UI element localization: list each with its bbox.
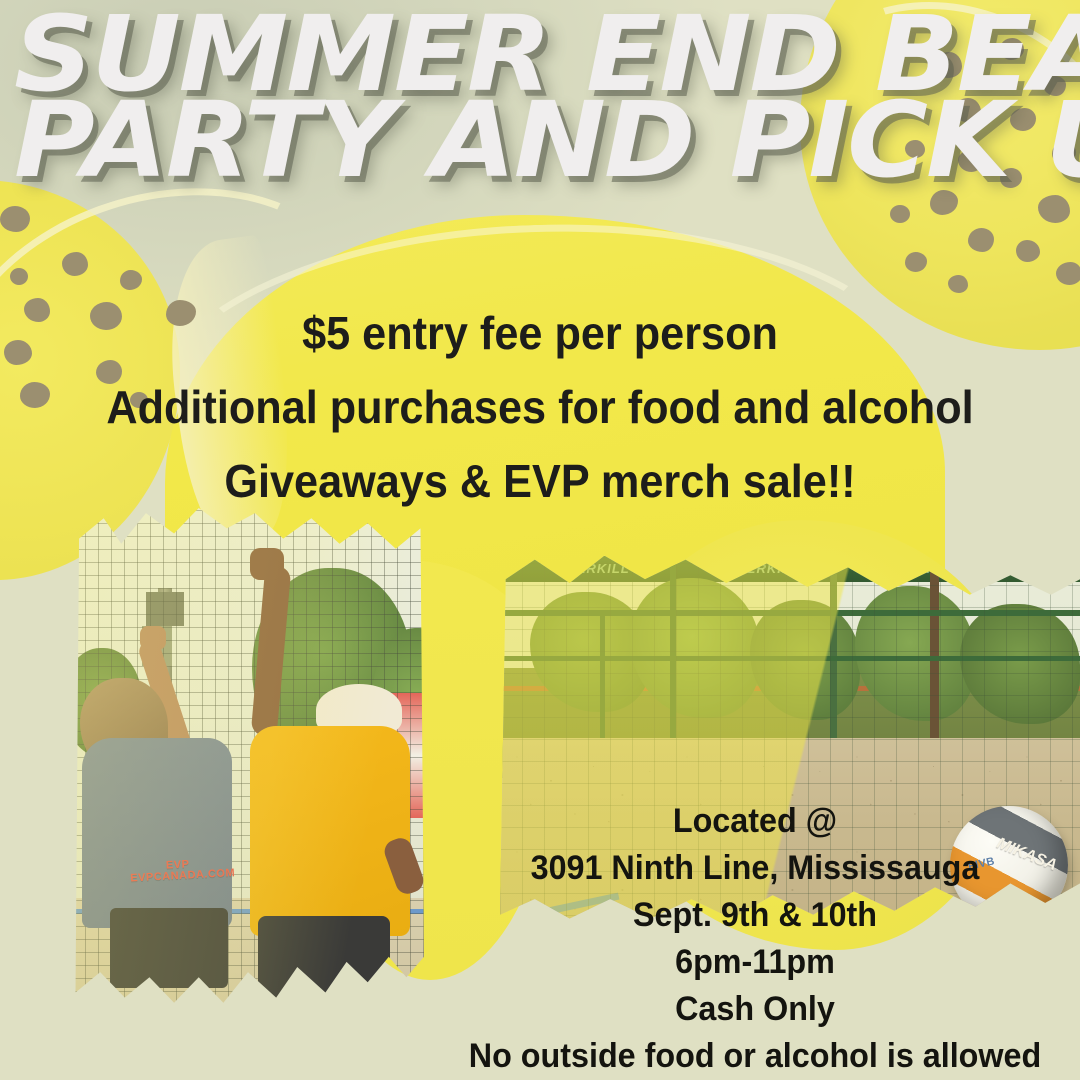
detail-line-purchases: Additional purchases for food and alcoho… bbox=[32, 370, 1047, 444]
poster-canvas: EVP EVPCANADA.COM OVERKILL OVERKILL OVER… bbox=[0, 0, 1080, 1080]
info-restriction: No outside food or alcohol is allowed bbox=[446, 1033, 1064, 1080]
info-address: 3091 Ninth Line, Mississauga bbox=[446, 845, 1064, 892]
info-payment: Cash Only bbox=[446, 986, 1064, 1033]
decorative-dot bbox=[10, 268, 28, 285]
detail-line-entry-fee: $5 entry fee per person bbox=[32, 296, 1047, 370]
poster-details: $5 entry fee per person Additional purch… bbox=[0, 296, 1080, 518]
photo-left-yellow-wash bbox=[72, 508, 424, 1018]
decorative-dot bbox=[890, 205, 910, 223]
info-time: 6pm-11pm bbox=[446, 939, 1064, 986]
title-line-2: PARTY AND PICK UP bbox=[14, 94, 1080, 186]
decorative-dot bbox=[948, 275, 968, 293]
decorative-dot bbox=[62, 252, 88, 276]
poster-title: SUMMER END BEACH PARTY AND PICK UP bbox=[14, 8, 1080, 186]
decorative-dot bbox=[120, 270, 142, 290]
decorative-dot bbox=[0, 206, 30, 232]
decorative-dot bbox=[968, 228, 994, 252]
info-located-label: Located @ bbox=[446, 798, 1064, 845]
photo-players: EVP EVPCANADA.COM bbox=[72, 508, 424, 1018]
info-dates: Sept. 9th & 10th bbox=[446, 892, 1064, 939]
poster-info: Located @ 3091 Ninth Line, Mississauga S… bbox=[430, 798, 1080, 1080]
decorative-dot bbox=[1016, 240, 1040, 262]
detail-line-giveaways: Giveaways & EVP merch sale!! bbox=[32, 444, 1047, 518]
decorative-dot bbox=[905, 252, 927, 272]
decorative-dot bbox=[1056, 262, 1080, 285]
